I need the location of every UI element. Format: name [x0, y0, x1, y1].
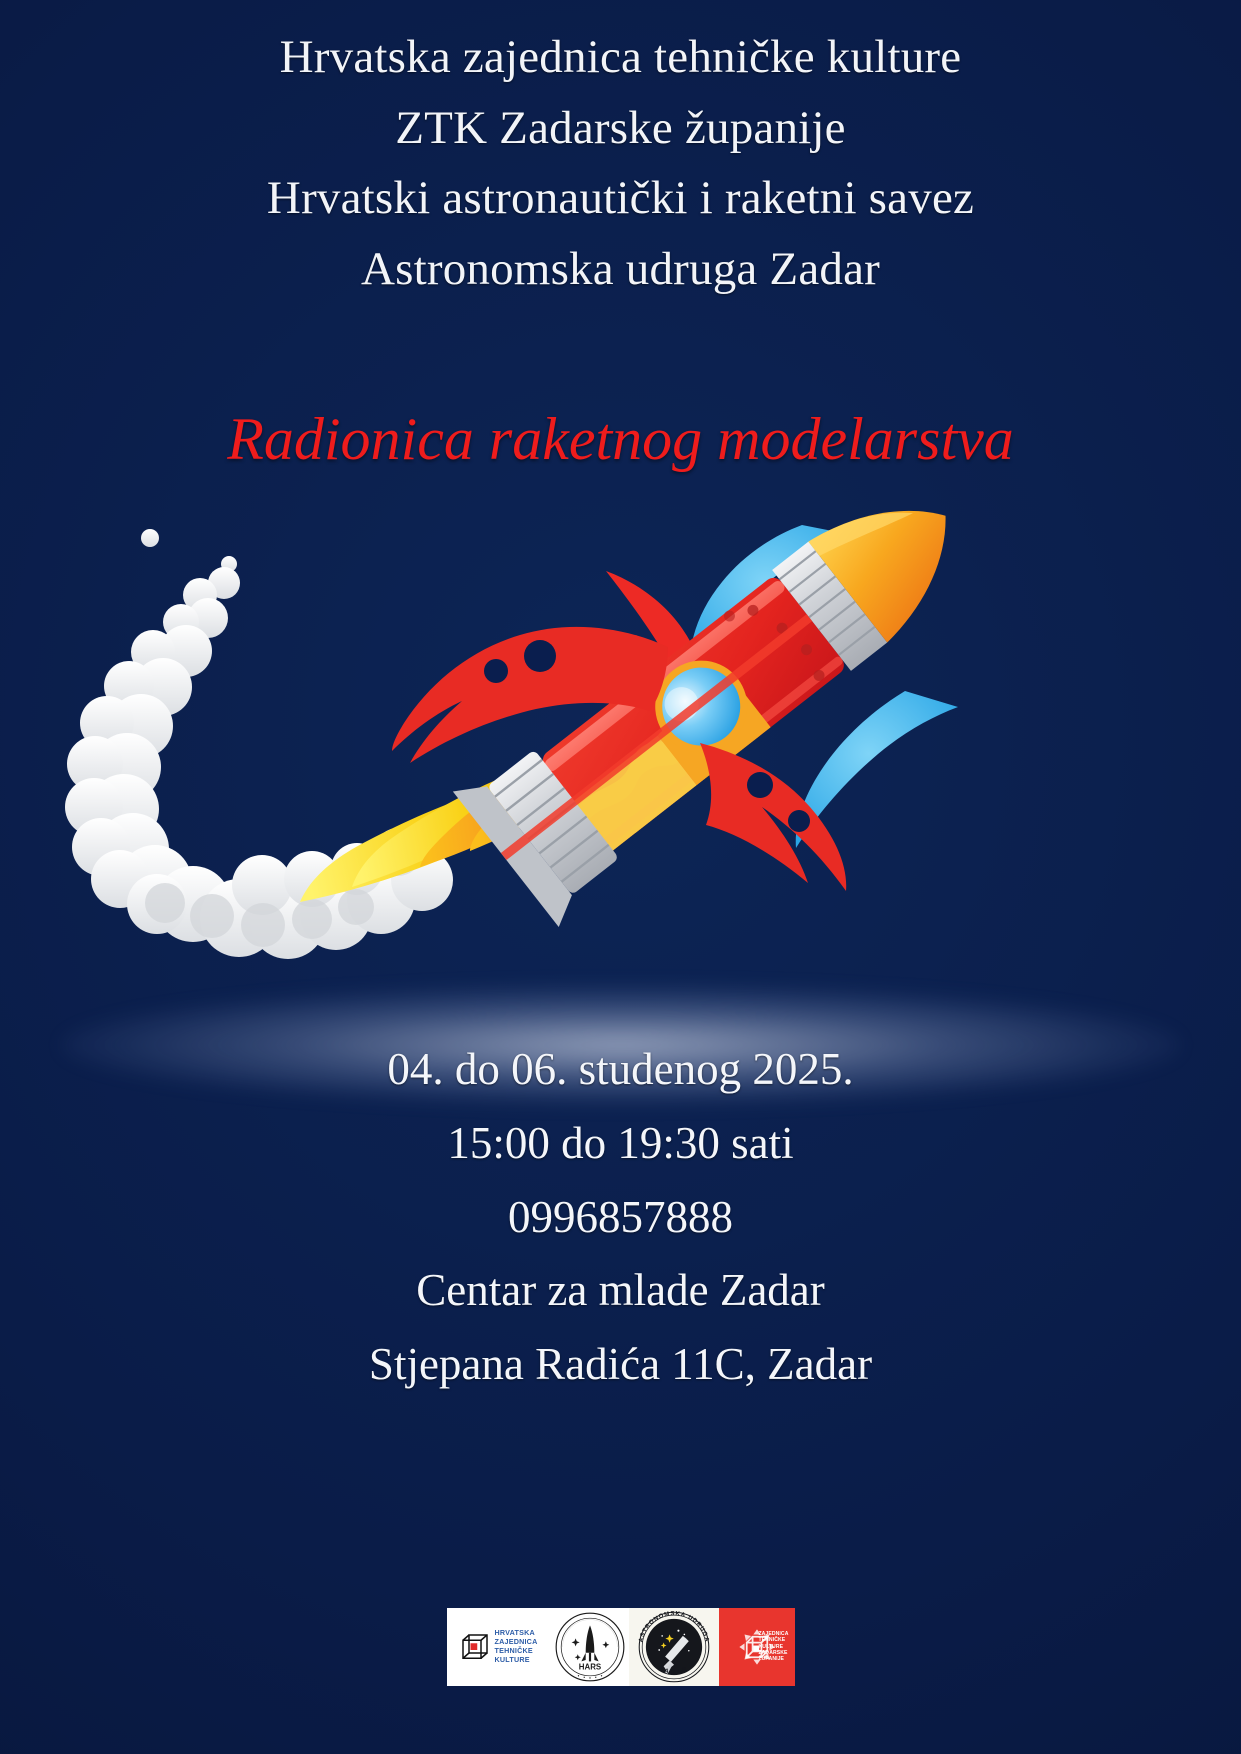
venue-address: Stjepana Radića 11C, Zadar [0, 1328, 1241, 1402]
event-info: 04. do 06. studenog 2025. 15:00 do 19:30… [0, 1033, 1241, 1402]
fin-hole-1 [484, 659, 508, 683]
rocket-tail-fin [700, 743, 846, 891]
organiser-line-1: Hrvatska zajednica tehničke kulture [0, 22, 1241, 93]
event-dates: 04. do 06. studenog 2025. [0, 1033, 1241, 1107]
contact-phone: 0996857888 [0, 1181, 1241, 1255]
ztk-wordmark: ZAJEDNICA TEHNIČKE KULTURE ZADARSKE ŽUPA… [758, 1631, 788, 1663]
logo-hars: HARS [551, 1608, 629, 1686]
logo-hztk: HRVATSKA ZAJEDNICA TEHNIČKE KULTURE [447, 1608, 551, 1686]
organiser-line-2: ZTK Zadarske županije [0, 93, 1241, 164]
logo-astronomska-udruga-zadar: ASTRONOMSKA UDRUGA [629, 1608, 719, 1686]
fin-hole-2 [524, 640, 556, 672]
hztk-wordmark: HRVATSKA ZAJEDNICA TEHNIČKE KULTURE [495, 1629, 538, 1664]
poster-canvas: Hrvatska zajednica tehničke kulture ZTK … [0, 0, 1241, 1754]
ztk-word-5: ŽUPANIJE [758, 1657, 788, 1663]
logo-strip: HRVATSKA ZAJEDNICA TEHNIČKE KULTURE [447, 1608, 795, 1686]
hars-caption: HARS [578, 1662, 600, 1671]
telescope-seal-icon: ASTRONOMSKA UDRUGA [637, 1610, 711, 1684]
organiser-line-4: Astronomska udruga Zadar [0, 234, 1241, 305]
organiser-line-3: Hrvatski astronautički i raketni savez [0, 163, 1241, 234]
rocket-seal-icon: HARS [554, 1611, 626, 1683]
organisers-header: Hrvatska zajednica tehničke kulture ZTK … [0, 22, 1241, 304]
cube-icon [460, 1632, 490, 1662]
rocket-illustration [0, 455, 1241, 1055]
ztk-word-2: TEHNIČKE [758, 1637, 788, 1643]
hztk-word-4: KULTURE [495, 1656, 538, 1665]
logo-ztk-zadarske-zupanije: ZAJEDNICA TEHNIČKE KULTURE ZADARSKE ŽUPA… [719, 1608, 795, 1686]
event-hours: 15:00 do 19:30 sati [0, 1107, 1241, 1181]
smoke-trail-icon [65, 529, 483, 959]
venue-name: Centar za mlade Zadar [0, 1254, 1241, 1328]
